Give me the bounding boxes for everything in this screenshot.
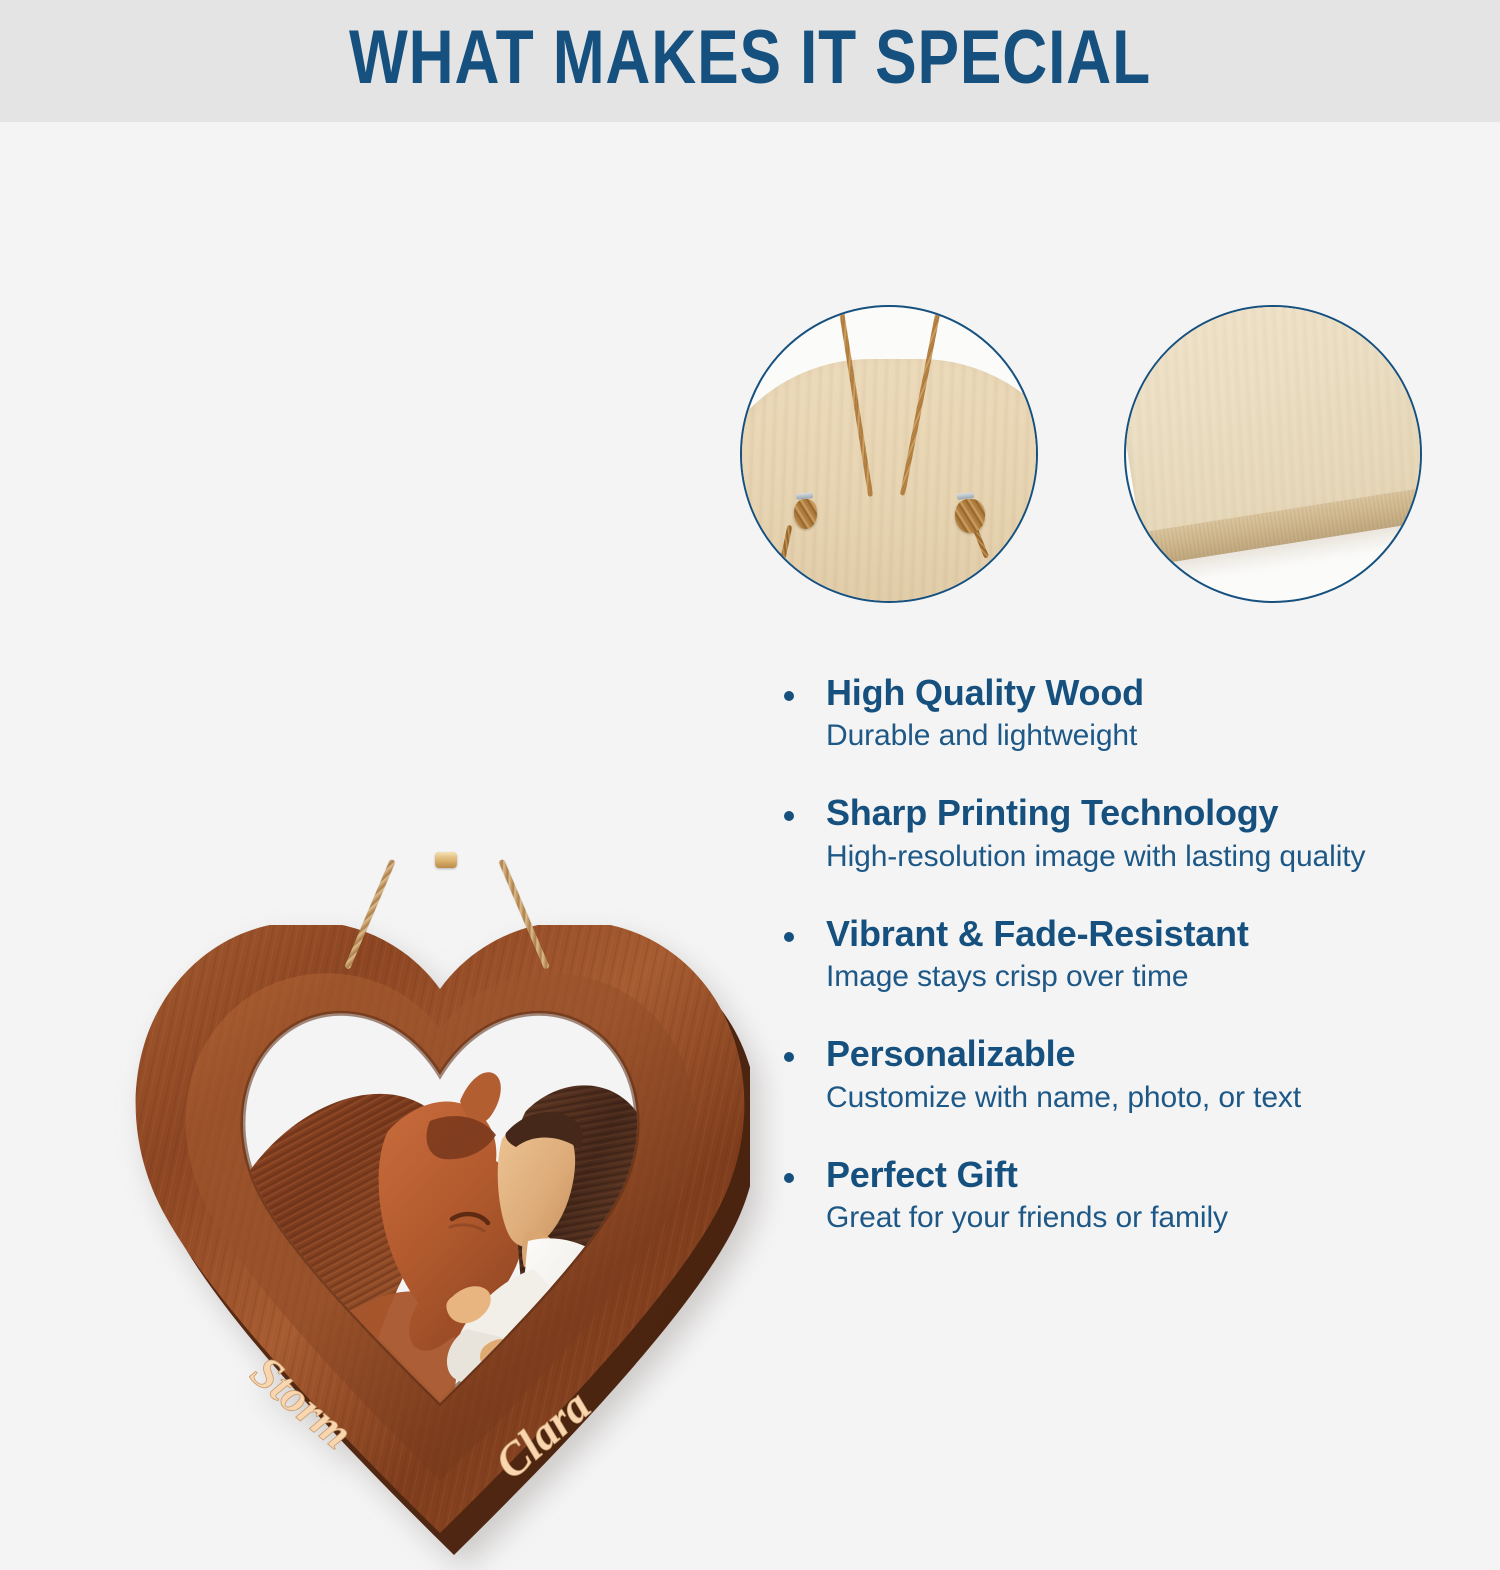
feature-title: Perfect Gift [826,1154,1465,1196]
detail-circle-rope-hanger [740,305,1038,603]
detail-circle-wood-thickness [1124,305,1422,603]
feature-subtitle: Image stays crisp over time [826,959,1465,995]
bullet-icon [784,691,794,701]
feature-title: High Quality Wood [826,672,1465,714]
feature-subtitle: Durable and lightweight [826,718,1465,754]
feature-item: Perfect Gift Great for your friends or f… [775,1154,1465,1236]
bullet-icon [784,1173,794,1183]
heart-sign: Storm Clara [130,925,750,1570]
page-title: WHAT MAKES IT SPECIAL [135,14,1365,101]
bullet-icon [784,1052,794,1062]
rope-knot-left [794,499,817,529]
feature-item: Personalizable Customize with name, phot… [775,1033,1465,1115]
feature-list: High Quality Wood Durable and lightweigh… [775,672,1465,1236]
feature-title: Vibrant & Fade-Resistant [826,913,1465,955]
feature-subtitle: High-resolution image with lasting quali… [826,839,1465,875]
feature-item: Vibrant & Fade-Resistant Image stays cri… [775,913,1465,995]
heart-sign-svg: Storm Clara [130,925,750,1570]
hanger-peg-icon [435,852,457,868]
feature-item: Sharp Printing Technology High-resolutio… [775,792,1465,874]
feature-subtitle: Great for your friends or family [826,1200,1465,1236]
feature-item: High Quality Wood Durable and lightweigh… [775,672,1465,754]
bullet-icon [784,811,794,821]
feature-subtitle: Customize with name, photo, or text [826,1080,1465,1116]
feature-title: Personalizable [826,1033,1465,1075]
bullet-icon [784,932,794,942]
feature-title: Sharp Printing Technology [826,792,1465,834]
plywood-back-surface [740,359,1038,603]
infographic-page: WHAT MAKES IT SPECIAL [0,0,1500,1500]
product-image: Storm Clara [60,420,710,1160]
rope-knot-right [955,499,985,533]
